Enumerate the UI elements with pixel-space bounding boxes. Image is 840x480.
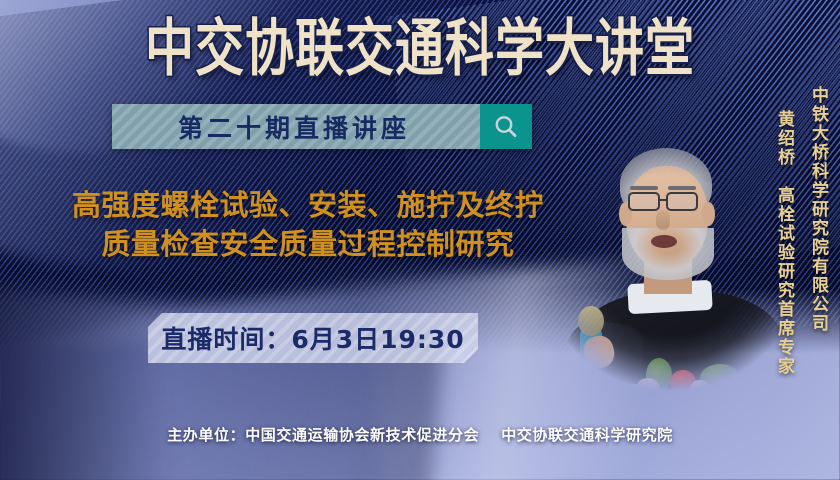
speaker-eyebrow-right — [668, 186, 696, 190]
search-button[interactable] — [480, 104, 532, 149]
page-title: 中交协联交通科学大讲堂 — [0, 18, 840, 80]
footer-organizers: 主办单位：中国交通运输协会新技术促进分会中交协联交通科学研究院 — [0, 424, 840, 445]
live-time-badge: 直播时间：6月3日19:30 — [148, 313, 478, 363]
episode-banner[interactable]: 第二十期直播讲座 — [112, 104, 532, 149]
microphone-head — [578, 306, 604, 336]
speaker-glasses-left — [628, 192, 660, 211]
lecture-topic: 高强度螺栓试验、安装、施拧及终拧 质量检查安全质量过程控制研究 — [8, 186, 608, 263]
search-icon — [491, 112, 521, 142]
lecture-topic-line-1: 高强度螺栓试验、安装、施拧及终拧 — [8, 186, 608, 225]
speaker-name-title: 黄绍桥 高栓试验研究首席专家 — [775, 110, 792, 376]
footer-organizer-label: 主办单位：中国交通运输协会新技术促进分会 — [167, 426, 479, 444]
speaker-organization: 中铁大桥科学研究院有限公司 — [809, 86, 826, 333]
footer-institute: 中交协联交通科学研究院 — [501, 426, 673, 444]
lecture-topic-line-2: 质量检查安全质量过程控制研究 — [8, 225, 608, 264]
speaker-glasses-bridge — [660, 199, 667, 201]
speaker-glasses-right — [666, 192, 698, 211]
speaker-nose — [656, 210, 670, 230]
speaker-eyebrow-left — [630, 186, 658, 190]
speaker-mouth — [651, 235, 677, 248]
live-time-text: 直播时间：6月3日19:30 — [161, 320, 464, 356]
speaker-photo — [556, 140, 806, 390]
speaker-ear-right — [702, 202, 715, 226]
episode-label: 第二十期直播讲座 — [178, 109, 414, 145]
episode-banner-fill: 第二十期直播讲座 — [112, 104, 480, 149]
live-lecture-poster: 中交协联交通科学大讲堂 第二十期直播讲座 高强度螺栓试验、安装、施拧及终拧 质量… — [0, 0, 840, 480]
